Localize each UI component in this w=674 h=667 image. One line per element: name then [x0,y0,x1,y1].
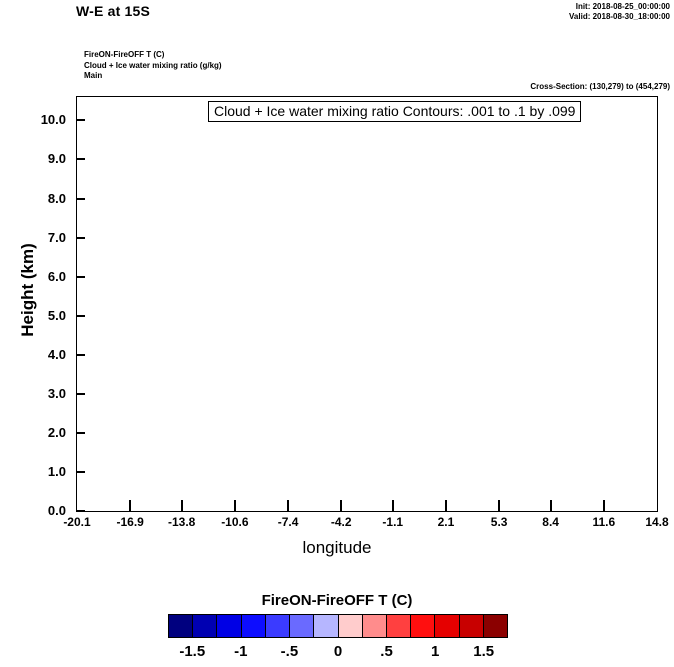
x-tick-mark [234,500,236,512]
x-tick-label: -10.6 [209,516,261,528]
colorbar-segment [363,615,387,637]
colorbar-tick-label: -1 [221,643,261,660]
y-tick-label: 7.0 [20,231,66,244]
x-tick-mark [603,500,605,512]
colorbar-title: FireON-FireOFF T (C) [0,592,674,609]
colorbar [168,614,508,638]
x-tick-mark [340,500,342,512]
y-tick-label: 1.0 [20,465,66,478]
colorbar-segment [435,615,459,637]
colorbar-segment [266,615,290,637]
x-tick-label: -16.9 [104,516,156,528]
colorbar-segment [242,615,266,637]
valid-time-label: Valid: 2018-08-30_18:00:00 [569,12,670,21]
colorbar-tick-label: 1.5 [464,643,504,660]
x-tick-mark [287,500,289,512]
colorbar-segment [290,615,314,637]
cross-section-label: Cross-Section: (130,279) to (454,279) [530,82,670,91]
variable-line-3: Main [84,71,222,82]
y-tick-label: 6.0 [20,270,66,283]
colorbar-tick-label: 1 [415,643,455,660]
x-tick-label: -7.4 [262,516,314,528]
x-tick-label: 14.8 [631,516,674,528]
x-tick-label: 2.1 [420,516,472,528]
x-axis-label: longitude [0,538,674,558]
y-tick-mark [76,198,85,200]
variable-line-1: FireON-FireOFF T (C) [84,50,222,61]
y-tick-label: 2.0 [20,426,66,439]
colorbar-segment [193,615,217,637]
colorbar-segment [339,615,363,637]
plot-area: Cloud + Ice water mixing ratio Contours:… [76,96,658,512]
colorbar-segment [169,615,193,637]
x-tick-mark [550,500,552,512]
y-tick-label: 9.0 [20,152,66,165]
x-tick-label: -4.2 [315,516,367,528]
x-tick-mark [498,500,500,512]
y-tick-mark [76,276,85,278]
y-tick-mark [76,354,85,356]
x-tick-label: 5.3 [473,516,525,528]
contour-title-box: Cloud + Ice water mixing ratio Contours:… [208,101,581,122]
y-tick-label: 8.0 [20,192,66,205]
x-tick-mark [129,500,131,512]
colorbar-segment [217,615,241,637]
colorbar-segment [460,615,484,637]
colorbar-tick-label: 0 [318,643,358,660]
y-tick-mark [76,315,85,317]
colorbar-tick-label: -.5 [269,643,309,660]
colorbar-segment [411,615,435,637]
y-tick-mark [76,237,85,239]
y-tick-label: 5.0 [20,309,66,322]
x-tick-label: 11.6 [578,516,630,528]
x-tick-label: -13.8 [156,516,208,528]
y-tick-label: 3.0 [20,387,66,400]
colorbar-segment [484,615,507,637]
y-tick-mark [76,432,85,434]
init-time-label: Init: 2018-08-25_00:00:00 [576,2,670,11]
y-tick-label: 4.0 [20,348,66,361]
y-tick-mark [76,119,85,121]
page-title: W-E at 15S [76,3,150,19]
contour-overlay [77,97,657,511]
colorbar-segment [387,615,411,637]
variable-line-2: Cloud + Ice water mixing ratio (g/kg) [84,61,222,72]
y-tick-mark [76,510,85,512]
y-tick-mark [76,158,85,160]
x-tick-label: -1.1 [367,516,419,528]
variable-info-block: FireON-FireOFF T (C) Cloud + Ice water m… [84,50,222,82]
colorbar-segment [314,615,338,637]
x-tick-label: -20.1 [51,516,103,528]
x-tick-mark [392,500,394,512]
colorbar-tick-label: -1.5 [172,643,212,660]
colorbar-tick-label: .5 [367,643,407,660]
y-tick-label: 10.0 [20,113,66,126]
y-tick-mark [76,393,85,395]
x-tick-mark [445,500,447,512]
y-tick-mark [76,471,85,473]
x-tick-mark [181,500,183,512]
x-tick-label: 8.4 [525,516,577,528]
